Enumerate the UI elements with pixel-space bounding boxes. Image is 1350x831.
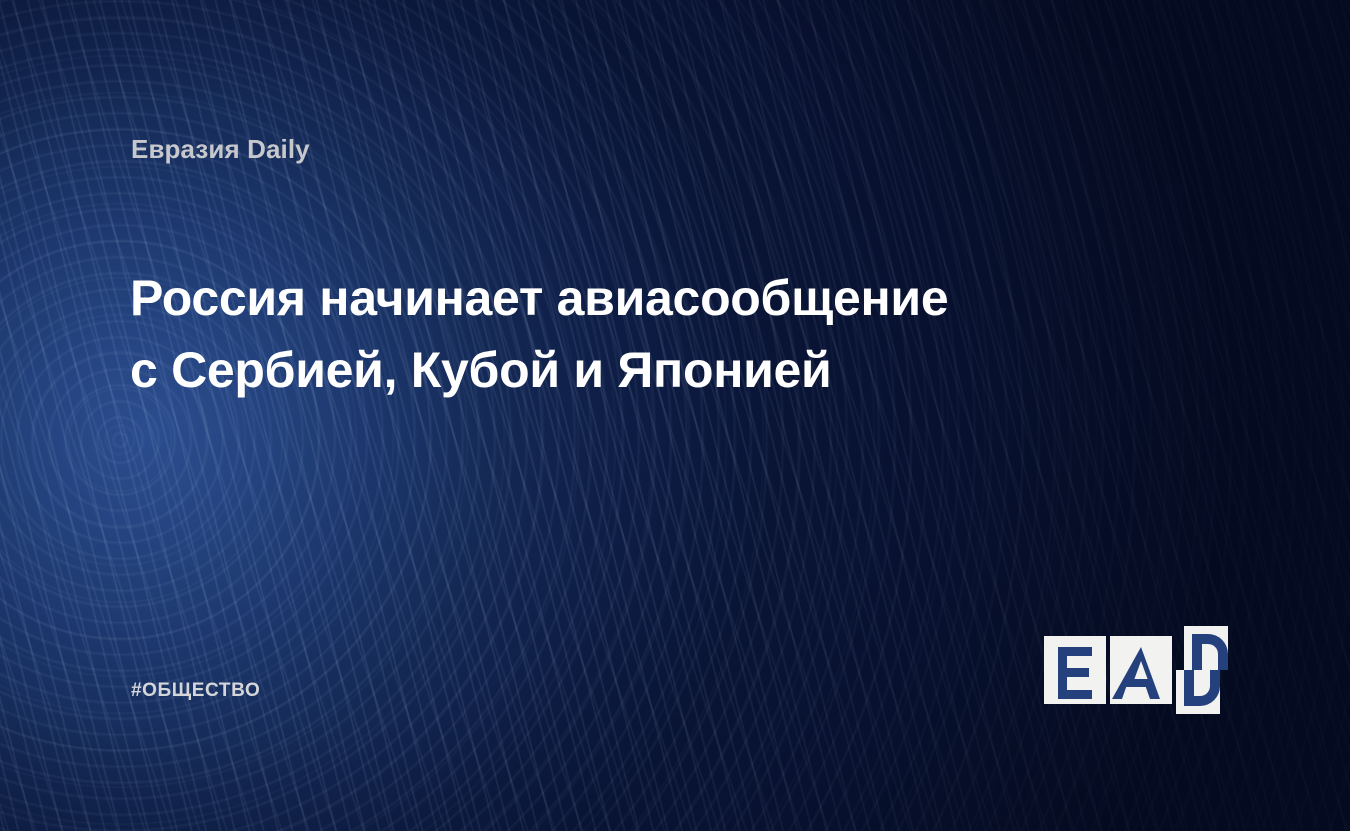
news-banner: Евразия Daily Россия начинает авиасообще… — [0, 0, 1350, 831]
logo-tile-a — [1110, 636, 1172, 704]
ead-logo-svg — [1044, 626, 1228, 714]
headline-line-1: Россия начинает авиасообщение — [130, 262, 1090, 334]
banner-content: Евразия Daily Россия начинает авиасообще… — [0, 0, 1350, 831]
headline-line-2: с Сербией, Кубой и Японией — [130, 334, 1090, 406]
publication-name: Евразия Daily — [131, 134, 310, 165]
logo-tile-d — [1176, 626, 1228, 714]
ead-logo — [1044, 626, 1228, 714]
category-tag: #ОБЩЕСТВО — [131, 680, 260, 702]
logo-tile-e — [1044, 636, 1106, 704]
headline: Россия начинает авиасообщение с Сербией,… — [130, 262, 1090, 406]
